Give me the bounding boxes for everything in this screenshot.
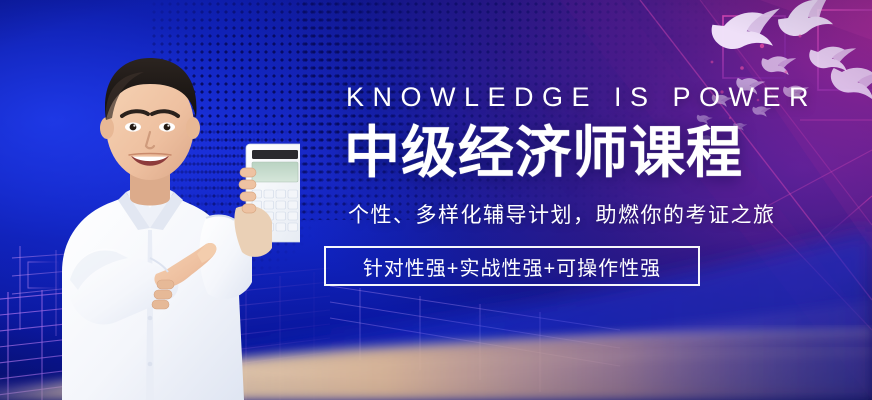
feature-highlight-text: 针对性强+实战性强+可操作性强 [363,252,661,281]
text-content-block: KNOWLEDGE IS POWER 中级经济师课程 个性、多样化辅导计划，助燃… [324,84,794,286]
feature-highlight-box: 针对性强+实战性强+可操作性强 [324,246,700,286]
english-headline: KNOWLEDGE IS POWER [346,84,794,111]
presenter-photo [0,22,300,400]
page-title: 中级经济师课程 [344,125,794,181]
course-promo-banner: KNOWLEDGE IS POWER 中级经济师课程 个性、多样化辅导计划，助燃… [0,0,872,400]
subtitle-text: 个性、多样化辅导计划，助燃你的考证之旅 [348,205,794,226]
